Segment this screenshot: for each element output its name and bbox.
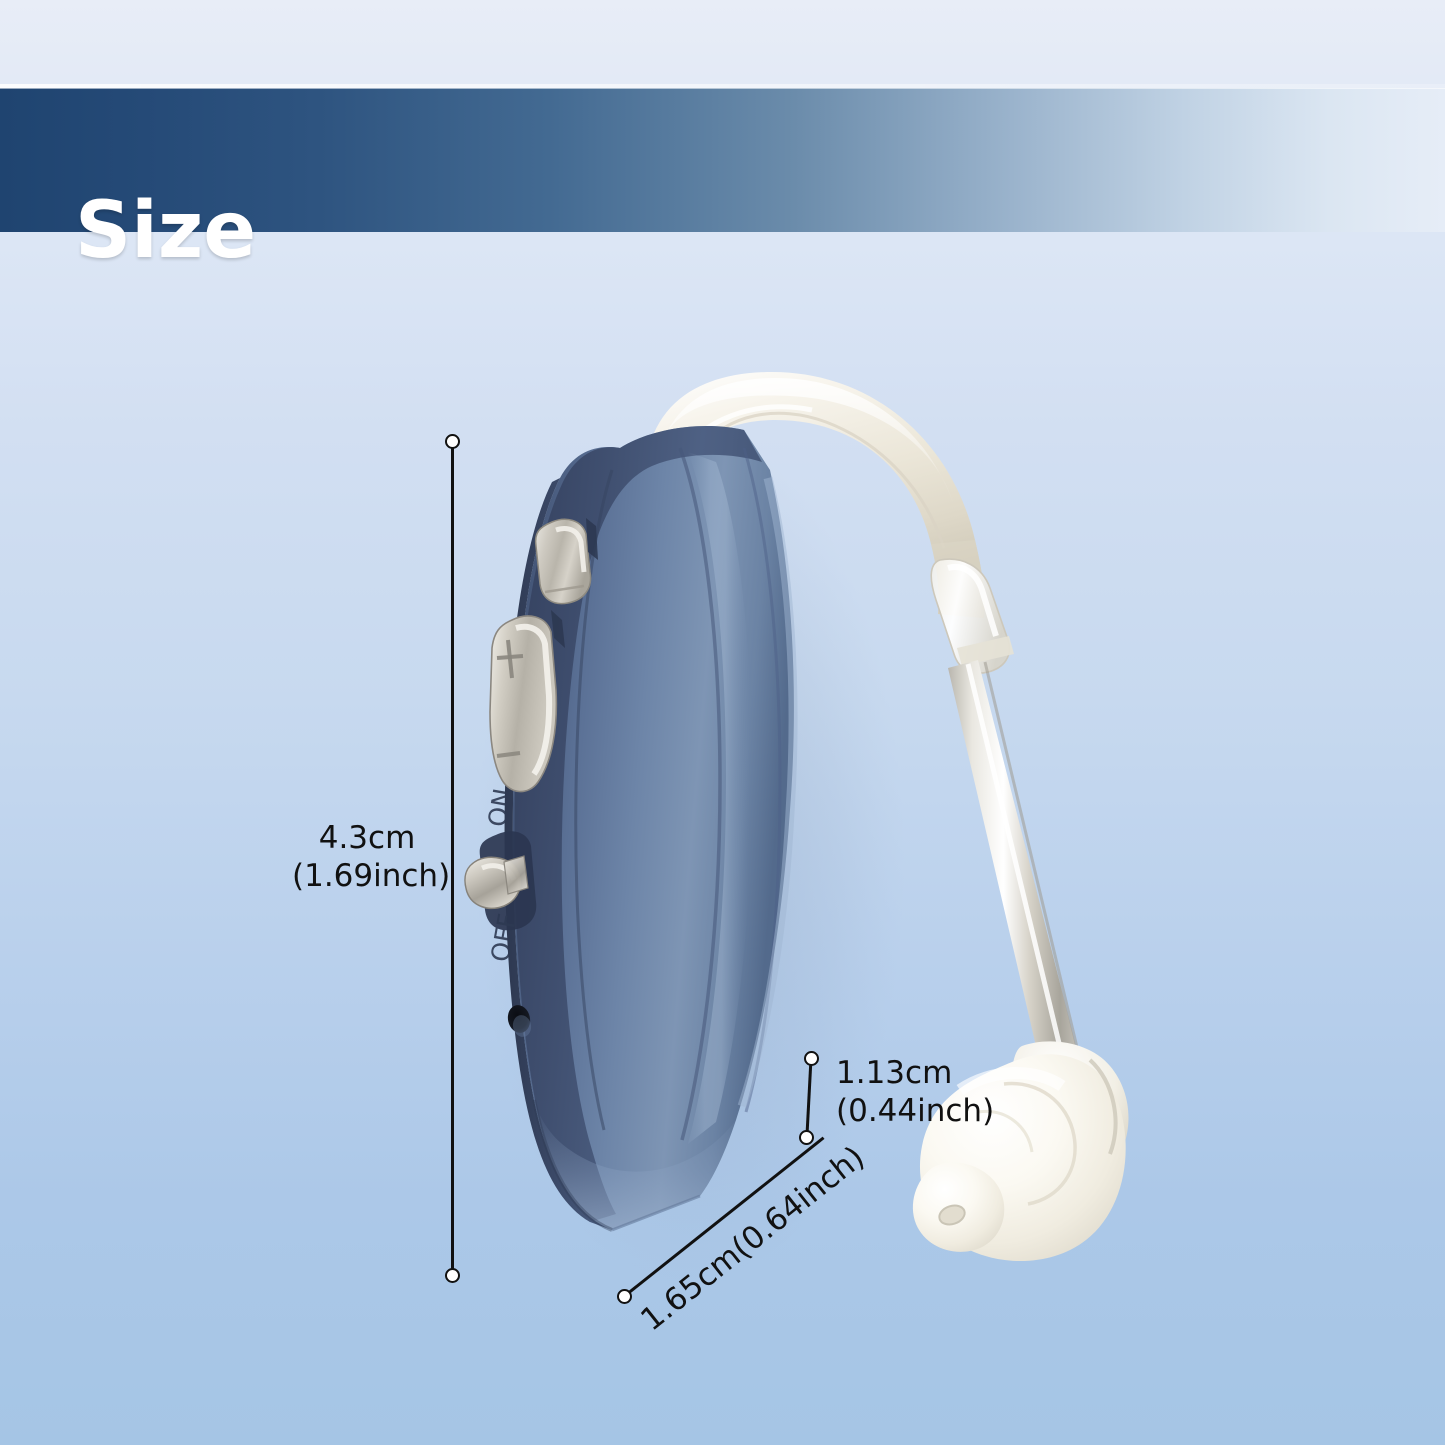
header-banner: Size — [0, 88, 1445, 232]
ear-hook — [648, 372, 985, 618]
width-endpoint-lower — [617, 1289, 632, 1304]
receiver-wire — [948, 660, 1080, 1072]
height-cm: 4.3cm — [292, 820, 442, 858]
depth-line — [805, 1058, 812, 1138]
tube-connector — [931, 559, 1014, 673]
depth-endpoint-top — [804, 1051, 819, 1066]
depth-endpoint-bottom — [799, 1130, 814, 1145]
depth-cm: 1.13cm — [836, 1055, 994, 1093]
program-button — [536, 518, 598, 604]
dimension-depth-label: 1.13cm (0.44inch) — [836, 1055, 994, 1131]
depth-inch: (0.44inch) — [836, 1093, 994, 1131]
dimension-width-label: 1.65cm(0.64inch) — [634, 1139, 872, 1339]
dimension-height-label: 4.3cm (1.69inch) — [292, 820, 442, 896]
volume-rocker — [490, 610, 565, 792]
page-title: Size — [75, 192, 256, 270]
height-inch: (1.69inch) — [292, 858, 442, 896]
device-body — [505, 426, 794, 1230]
height-endpoint-bottom — [445, 1268, 460, 1283]
size-infographic-page: Size — [0, 0, 1445, 1445]
power-switch: ON OFF — [465, 786, 536, 964]
switch-label-on: ON — [482, 786, 517, 829]
height-endpoint-top — [445, 434, 460, 449]
height-line — [451, 448, 454, 1276]
microphone-port — [505, 1003, 533, 1039]
switch-label-off: OFF — [485, 911, 522, 964]
